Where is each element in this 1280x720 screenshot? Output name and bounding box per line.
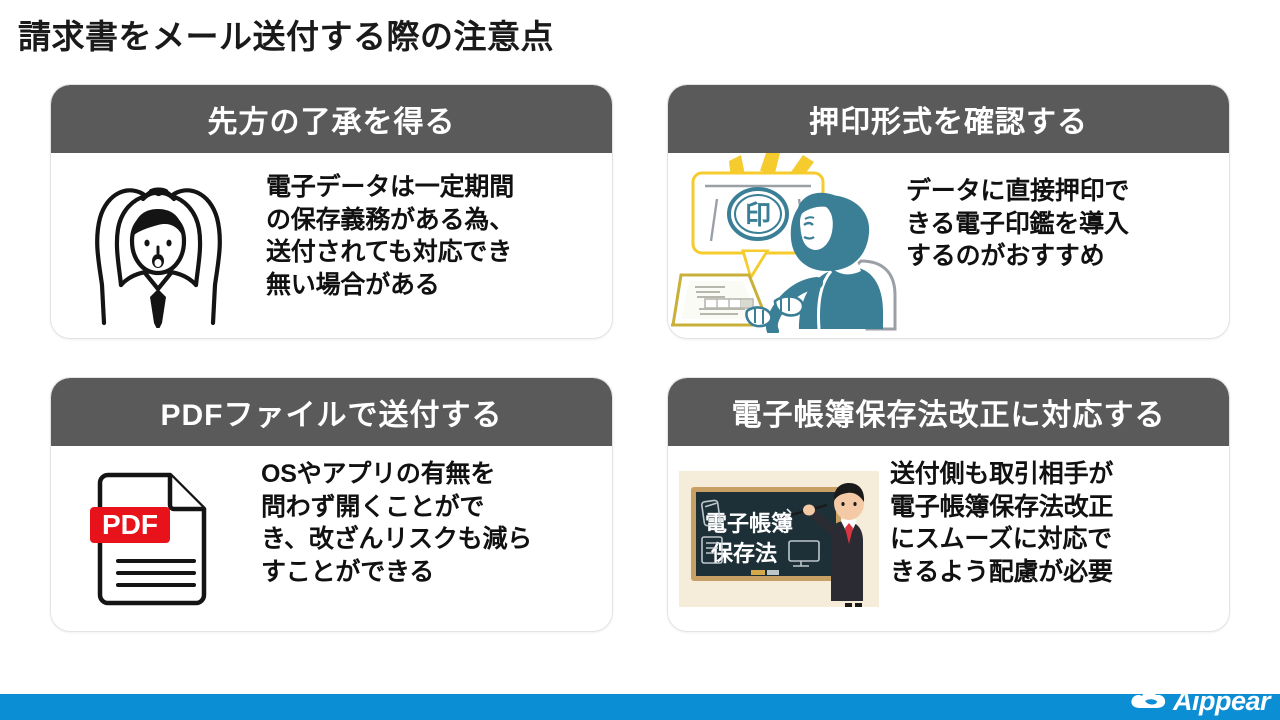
slide-root: 請求書をメール送付する際の注意点 先方の了承を得る	[0, 0, 1280, 720]
head-shape	[132, 209, 184, 273]
card-body-line: 送付されても対応でき	[266, 236, 604, 269]
card-body-line: の保存義務がある為、	[266, 204, 604, 237]
brand-logo: Aippear	[1129, 683, 1270, 719]
tie-shape	[150, 289, 166, 328]
card-body-line: するのがおすすめ	[906, 240, 1221, 273]
card-denshi-chobo[interactable]: 電子帳簿保存法改正に対応する 電子帳簿 保存法	[667, 377, 1230, 632]
businessman-ok-gesture-icon	[71, 163, 246, 328]
card-body-line: データに直接押印で	[906, 175, 1221, 208]
card-body: 電子データは一定期間 の保存義務がある為、 送付されても対応でき 無い場合がある	[51, 153, 612, 338]
page-title: 請求書をメール送付する際の注意点	[18, 10, 554, 58]
card-body: PDF OSやアプリの有無を 問わず開くことがで き、改ざんリスクも減ら すこと…	[51, 446, 612, 631]
blackboard-lecture-icon: 電子帳簿 保存法	[679, 471, 879, 607]
card-header: 電子帳簿保存法改正に対応する	[668, 378, 1229, 446]
card-body-line: 送付側も取引相手が	[890, 458, 1221, 491]
seal-label: 印	[745, 200, 771, 230]
card-body: 電子帳簿 保存法	[668, 446, 1229, 631]
card-oin-keishiki[interactable]: 押印形式を確認する	[667, 84, 1230, 339]
card-header-label: 押印形式を確認する	[809, 97, 1088, 141]
card-body-text: OSやアプリの有無を 問わず開くことがで き、改ざんリスクも減ら すことができる	[261, 446, 612, 588]
card-header: 先方の了承を得る	[51, 85, 612, 153]
card-illustration: 電子帳簿 保存法	[668, 446, 890, 631]
card-header-label: 電子帳簿保存法改正に対応する	[732, 390, 1166, 434]
card-grid: 先方の了承を得る	[50, 84, 1230, 664]
card-body-text: 電子データは一定期間 の保存義務がある為、 送付されても対応でき 無い場合がある	[266, 153, 612, 301]
card-body-text: 送付側も取引相手が 電子帳簿保存法改正 にスムーズに対応で きるよう配慮が必要	[890, 446, 1229, 588]
card-shoho-no-ryosho[interactable]: 先方の了承を得る	[50, 84, 613, 339]
cloud-icon	[1129, 688, 1169, 714]
card-header-label: 先方の了承を得る	[208, 97, 456, 141]
card-body-line: 無い場合がある	[266, 269, 604, 302]
card-header: 押印形式を確認する	[668, 85, 1229, 153]
card-body-line: 電子帳簿保存法改正	[890, 491, 1221, 524]
card-header: PDFファイルで送付する	[51, 378, 612, 446]
card-body-text: データに直接押印で きる電子印鑑を導入 するのがおすすめ	[906, 153, 1229, 273]
brand-logo-label: Aippear	[1173, 686, 1270, 717]
card-body-line: きるよう配慮が必要	[890, 556, 1221, 589]
card-body-line: き、改ざんリスクも減ら	[261, 523, 604, 556]
card-body: 印	[668, 153, 1229, 338]
pdf-file-icon: PDF	[86, 463, 226, 615]
card-body-line: 電子データは一定期間	[266, 171, 604, 204]
card-pdf-soufu[interactable]: PDFファイルで送付する PDF	[50, 377, 613, 632]
card-body-line: 問わず開くことがで	[261, 491, 604, 524]
card-header-label: PDFファイルで送付する	[161, 390, 503, 434]
woman-laptop-digital-seal-icon: 印	[671, 153, 903, 333]
card-illustration: PDF	[51, 446, 261, 631]
pdf-badge-label: PDF	[102, 509, 158, 540]
card-body-line: すことができる	[261, 556, 604, 589]
footer-bar	[0, 694, 1280, 720]
card-illustration	[51, 153, 266, 338]
card-body-line: きる電子印鑑を導入	[906, 208, 1221, 241]
card-illustration: 印	[668, 153, 906, 338]
card-body-line: OSやアプリの有無を	[261, 458, 604, 491]
card-body-line: にスムーズに対応で	[890, 523, 1221, 556]
